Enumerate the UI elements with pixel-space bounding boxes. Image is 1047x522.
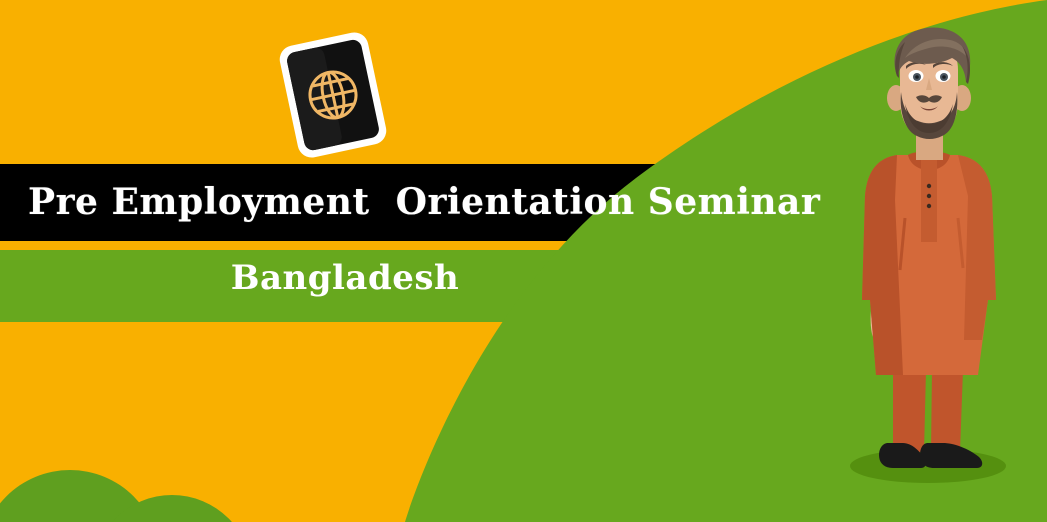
leg-right (931, 370, 963, 452)
kurta-placket (921, 160, 937, 242)
pupil-left (915, 75, 919, 79)
seminar-title: Pre Employment Orientation Seminar (28, 173, 820, 231)
banner-root: Pre Employment Orientation Seminar Bangl… (0, 0, 1047, 522)
leg-left (893, 370, 926, 452)
kurta-button-2 (927, 194, 931, 198)
pupil-right (942, 75, 946, 79)
kurta-button-1 (927, 184, 931, 188)
country-subtitle: Bangladesh (0, 258, 690, 298)
kurta-button-3 (927, 204, 931, 208)
